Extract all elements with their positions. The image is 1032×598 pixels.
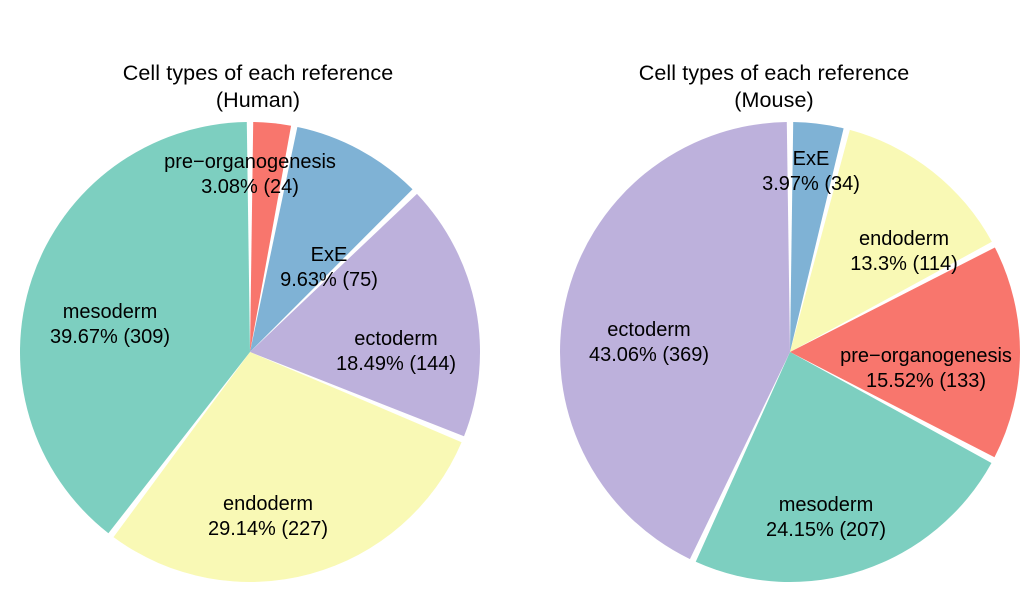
pie-panel-mouse: Cell types of each reference (Mouse) ExE… <box>516 0 1032 598</box>
pie-panel-human: Cell types of each reference (Human) pre… <box>0 0 516 598</box>
figure-canvas: Cell types of each reference (Human) pre… <box>0 0 1032 598</box>
pie-chart-mouse <box>516 0 1032 598</box>
pie-chart-human <box>0 0 516 598</box>
